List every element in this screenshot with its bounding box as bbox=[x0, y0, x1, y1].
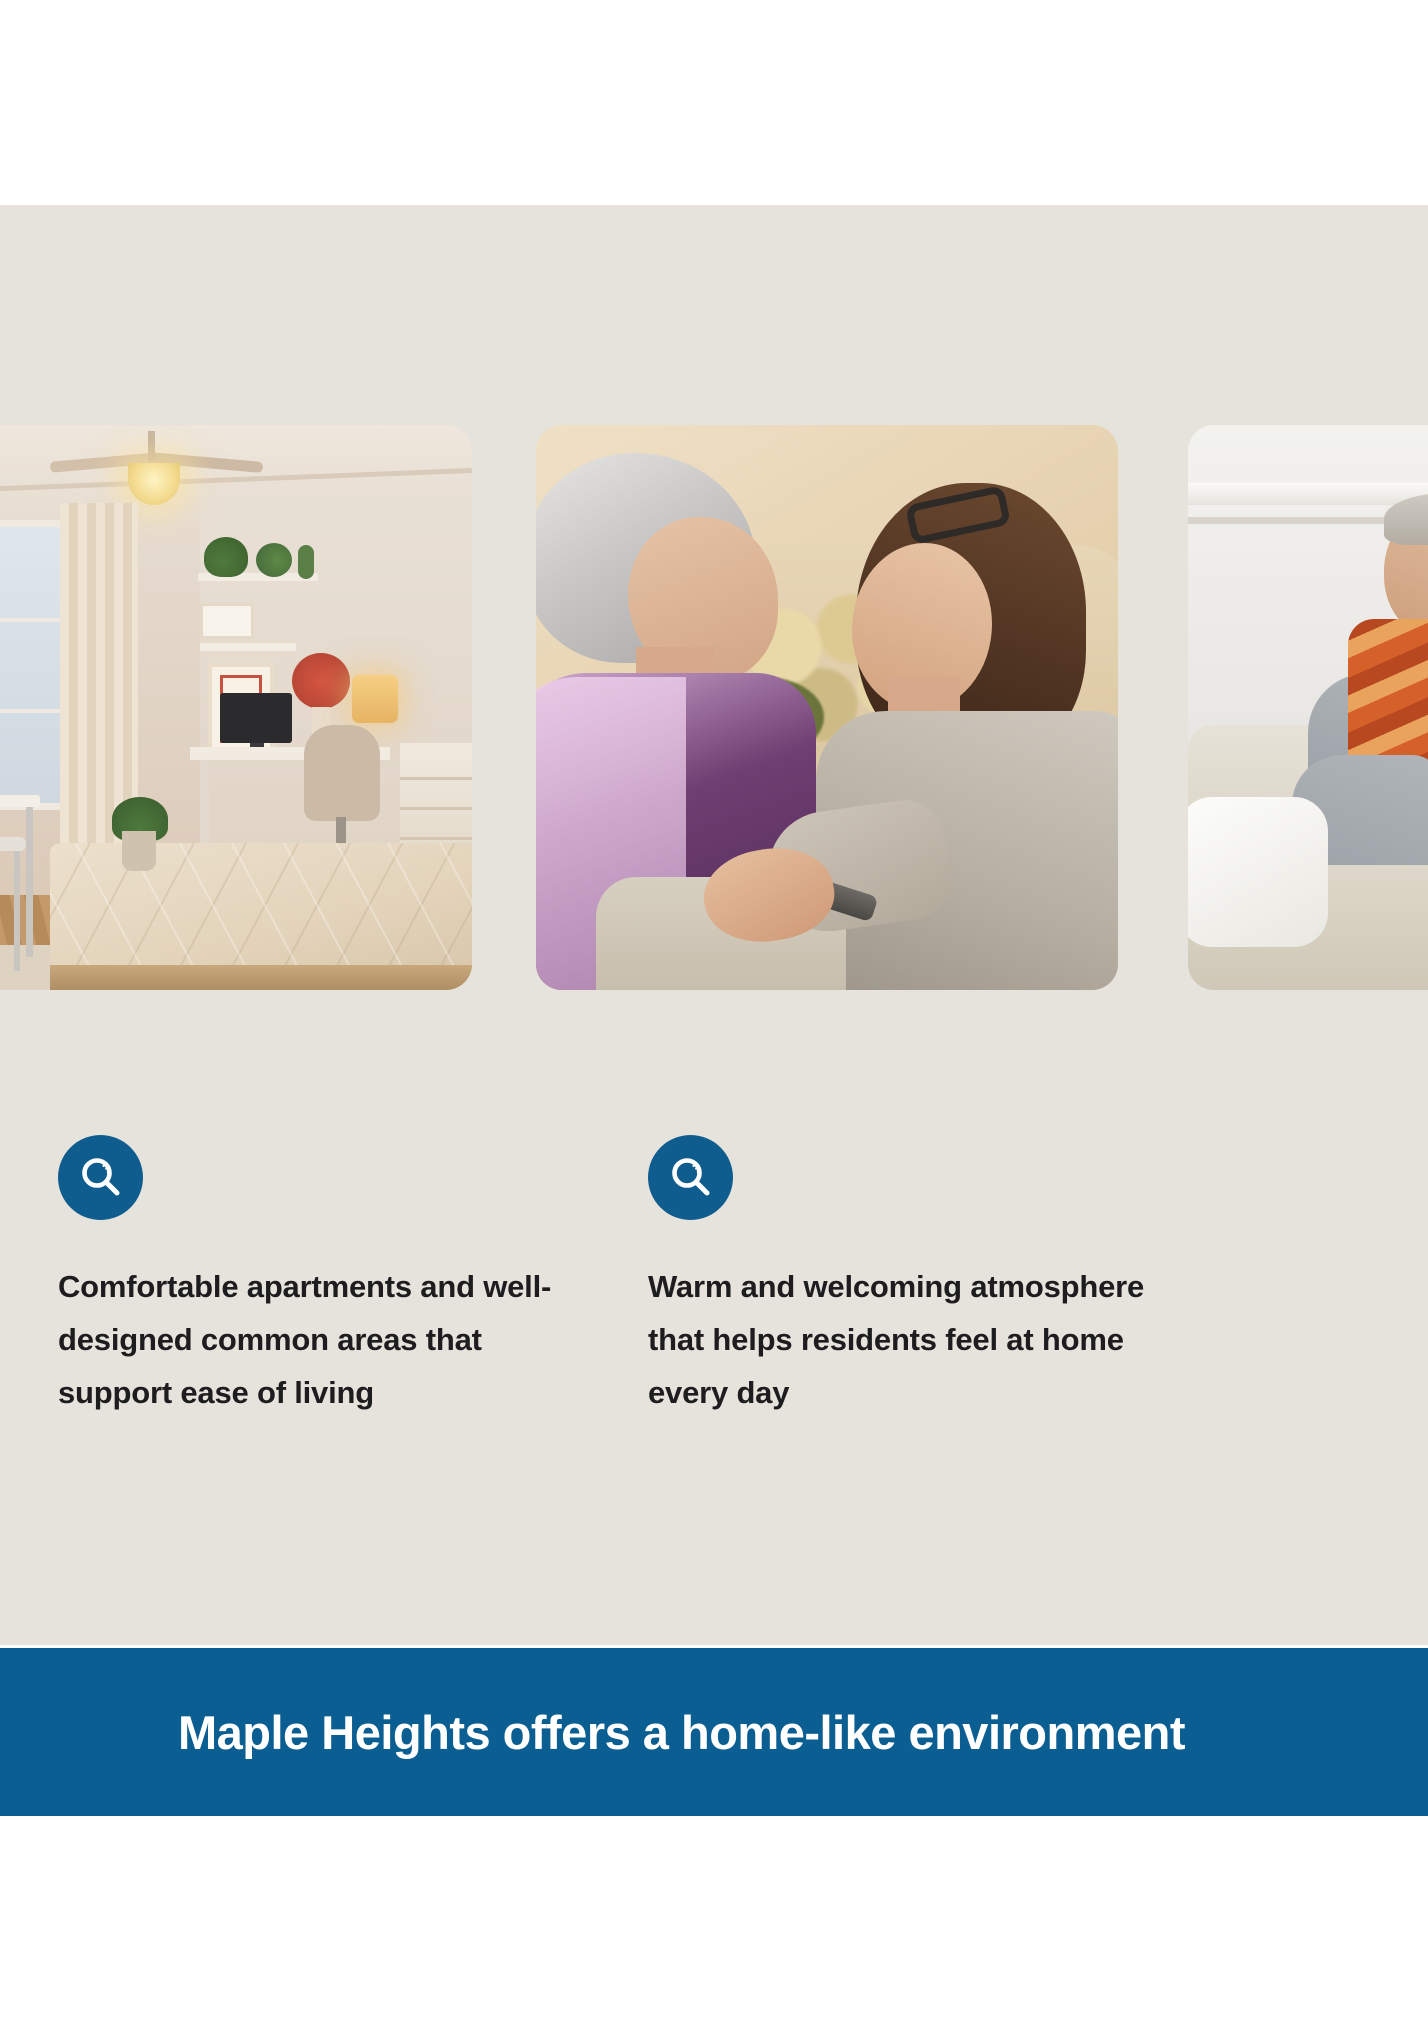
magnifier-icon bbox=[58, 1135, 143, 1220]
banner-headline: Maple Heights offers a home-like environ… bbox=[178, 1705, 1185, 1760]
bottom-banner: Maple Heights offers a home-like environ… bbox=[0, 1648, 1428, 1816]
slide-canvas: { "theme": { "page_background": "#ffffff… bbox=[0, 0, 1428, 2018]
feature-item-2: Warm and welcoming atmosphere that helps… bbox=[648, 1135, 1168, 1419]
apartment-interior-photo bbox=[0, 425, 472, 990]
feature-item-1: Comfortable apartments and well-designed… bbox=[58, 1135, 578, 1419]
caregiver-and-resident-image bbox=[536, 425, 1118, 990]
caregiver-and-resident-photo bbox=[536, 425, 1118, 990]
feature-text-2: Warm and welcoming atmosphere that helps… bbox=[648, 1260, 1168, 1419]
resident-on-sofa-photo bbox=[1188, 425, 1428, 990]
magnifier-icon bbox=[648, 1135, 733, 1220]
resident-on-sofa-image bbox=[1188, 425, 1428, 990]
content-panel: Comfortable apartments and well-designed… bbox=[0, 205, 1428, 1645]
apartment-interior-image bbox=[0, 425, 472, 990]
image-gallery bbox=[0, 425, 1428, 990]
feature-text-1: Comfortable apartments and well-designed… bbox=[58, 1260, 578, 1419]
